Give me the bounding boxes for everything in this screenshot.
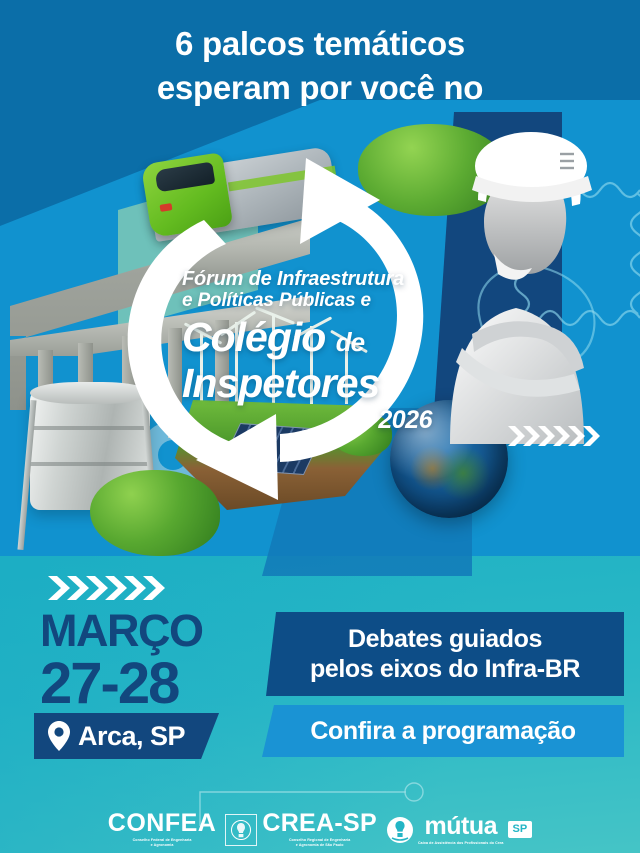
- headline-line-2: esperam por você no: [0, 66, 640, 110]
- location-pin-icon: [48, 721, 70, 751]
- mutua-symbol-icon: [386, 816, 414, 844]
- event-days: 27-28: [40, 655, 202, 713]
- chevron-right-icon: [508, 422, 604, 450]
- location-banner: Arca, SP: [34, 713, 219, 759]
- event-title-main-word: Colégio: [182, 314, 325, 360]
- debates-line-1: Debates guiados: [348, 625, 542, 653]
- location-text: Arca, SP: [78, 721, 185, 752]
- headline-line-1: 6 palcos temáticos: [0, 22, 640, 66]
- chevron-right-icon: [48, 572, 172, 604]
- date-block: MARÇO 27-28: [40, 610, 202, 713]
- promo-poster: 6 palcos temáticos esperam por você no F…: [0, 0, 640, 853]
- footer-logos: CONFEA Conselho Federal de Engenharia e …: [0, 806, 640, 853]
- mutua-sp-badge: SP: [508, 821, 533, 838]
- program-callout[interactable]: Confira a programação: [262, 705, 624, 757]
- event-title: Fórum de Infraestrutura e Políticas Públ…: [182, 268, 482, 435]
- event-month: MARÇO: [40, 610, 202, 653]
- event-title-line-1: Fórum de Infraestrutura: [182, 268, 482, 290]
- logo-mutua: mútua Caixa de Assistência dos Profissio…: [386, 814, 532, 846]
- debates-callout[interactable]: Debates guiados pelos eixos do Infra-BR: [266, 612, 624, 696]
- event-year: 2026: [182, 406, 432, 435]
- event-title-line-2: e Políticas Públicas e: [182, 290, 482, 312]
- confea-wordmark: CONFEA: [108, 811, 217, 836]
- crea-wordmark: CREA-SP: [262, 811, 377, 836]
- confea-subtitle: Conselho Federal de Engenharia e Agronom…: [133, 838, 192, 848]
- debates-line-2: pelos eixos do Infra-BR: [310, 655, 580, 683]
- event-title-main: Colégio de: [182, 317, 482, 359]
- event-title-main-2: Inspetores: [182, 363, 482, 405]
- mutua-subtitle: Caixa de Assistência dos Profissionais d…: [418, 841, 504, 846]
- crea-subtitle: Conselho Regional de Engenharia e Agrono…: [289, 838, 350, 848]
- logo-confea: CONFEA Conselho Federal de Engenharia e …: [108, 811, 217, 848]
- program-text: Confira a programação: [310, 717, 575, 746]
- headline: 6 palcos temáticos esperam por você no: [0, 22, 640, 109]
- logo-crea-sp: CREA-SP Conselho Regional de Engenharia …: [225, 811, 377, 848]
- event-title-main-connector: de: [336, 327, 364, 357]
- mutua-wordmark: mútua: [425, 814, 498, 839]
- crea-seal-icon: [225, 814, 257, 846]
